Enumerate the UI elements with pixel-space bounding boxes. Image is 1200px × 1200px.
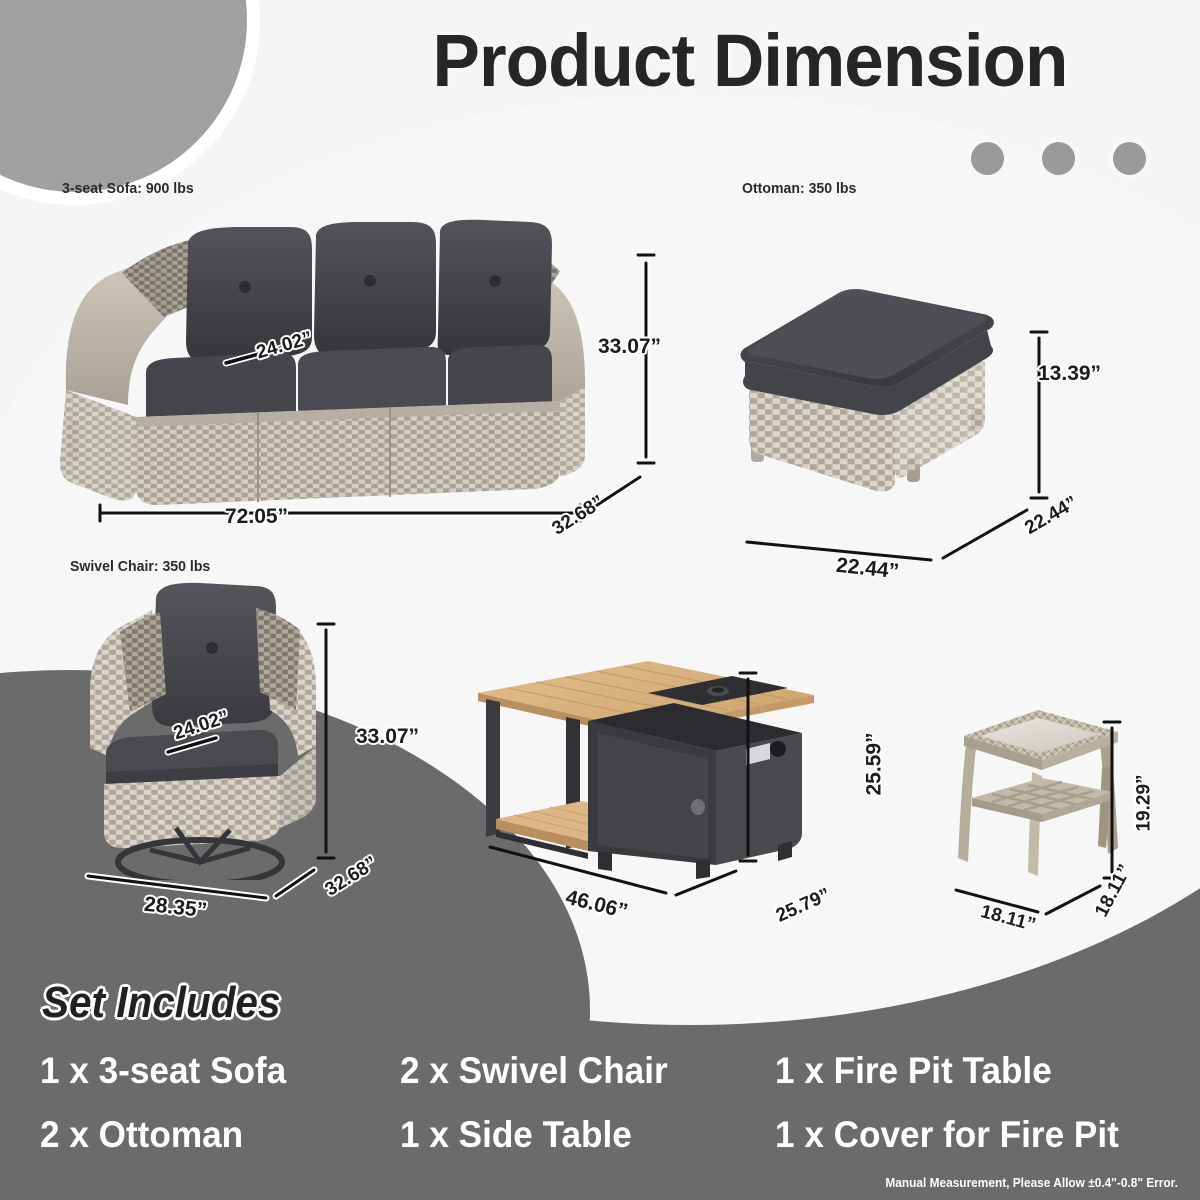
set-item-5: 1 x Side Table [400,1114,756,1156]
swivel-chair-height-label: 33.07” [356,725,419,749]
sofa-height-label: 33.07” [598,335,661,359]
set-includes-title: Set Includes [42,978,280,1028]
ottoman-height-label: 13.39” [1038,362,1101,386]
fire-pit-height-label: 25.59” [863,732,887,795]
page-title: Product Dimension [347,18,1153,103]
set-item-4: 2 x Ottoman [40,1114,382,1156]
dot-1 [971,142,1004,175]
dot-3 [1113,142,1146,175]
set-item-1: 1 x 3-seat Sofa [40,1050,382,1092]
measurement-disclaimer: Manual Measurement, Please Allow ±0.4"-0… [885,1176,1178,1190]
side-table-height-label: 19.29” [1134,774,1156,831]
decorative-dots [971,142,1146,175]
set-item-6: 1 x Cover for Fire Pit [775,1114,1131,1156]
set-item-3: 1 x Fire Pit Table [775,1050,1131,1092]
dot-2 [1042,142,1075,175]
caption-sofa: 3-seat Sofa: 900 lbs [62,180,194,197]
set-includes-list: 1 x 3-seat Sofa 2 x Swivel Chair 1 x Fir… [40,1050,1150,1156]
set-item-2: 2 x Swivel Chair [400,1050,756,1092]
caption-ottoman: Ottoman: 350 lbs [742,180,856,197]
ottoman-dimension-lines [735,250,1125,600]
sofa-width-label: 72.05” [225,505,288,529]
